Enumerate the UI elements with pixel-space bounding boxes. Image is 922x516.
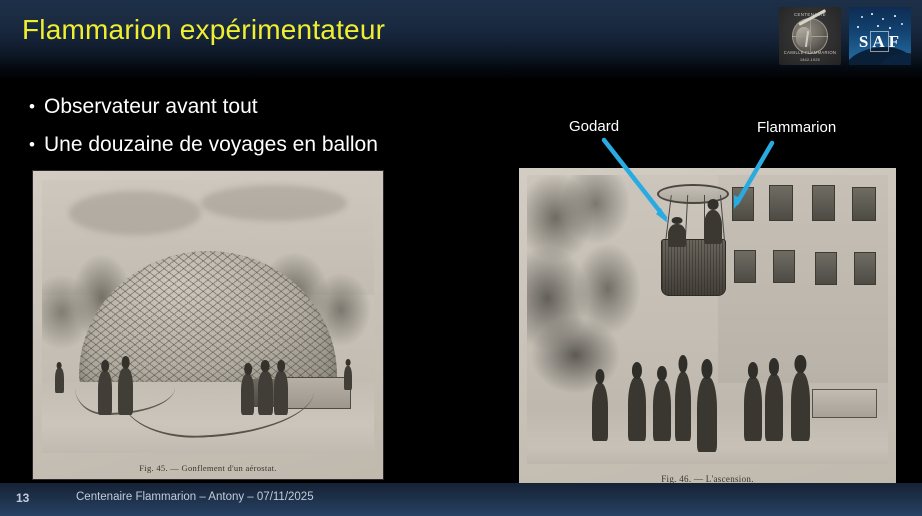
list-item: • Une douzaine de voyages en ballon <box>20 126 490 164</box>
saf-letter-s: S <box>859 32 870 51</box>
figure-person <box>98 371 111 415</box>
figure-person <box>791 372 811 441</box>
logo-top-text: CENTENAIRE <box>779 12 841 17</box>
figure-person <box>344 366 352 391</box>
page-title: Flammarion expérimentateur <box>22 13 385 47</box>
window <box>773 250 795 283</box>
window <box>732 187 754 220</box>
bullet-list: • Observateur avant tout • Une douzaine … <box>20 88 490 164</box>
slide-footer: 13 Centenaire Flammarion – Antony – 07/1… <box>0 483 922 516</box>
window <box>769 185 793 220</box>
footer-text: Centenaire Flammarion – Antony – 07/11/2… <box>76 491 314 503</box>
saf-letter-a: A <box>870 31 888 52</box>
logo-bottom-text: CAMILLE FLAMMARION <box>779 50 841 55</box>
cloud <box>69 191 202 235</box>
window <box>815 252 837 285</box>
figure-person <box>55 368 63 393</box>
callout-label-flammarion: Flammarion <box>757 119 836 137</box>
list-item: • Observateur avant tout <box>20 88 490 126</box>
window <box>734 250 756 283</box>
engraving-illustration <box>42 180 374 453</box>
window <box>852 187 876 220</box>
balloon-hoop <box>657 184 729 204</box>
bullet-icon: • <box>20 126 44 164</box>
saf-letter-f: F <box>889 32 901 51</box>
figure-caption: Fig. 45. — Gonflement d'un aérostat. <box>33 463 383 473</box>
star-icon <box>871 13 873 15</box>
figure-person <box>675 372 691 441</box>
figure-person <box>258 371 273 415</box>
bullet-text: Observateur avant tout <box>44 88 258 126</box>
figure-person <box>697 377 717 452</box>
star-icon <box>882 18 884 20</box>
figure-gonflement-aerostat: Fig. 45. — Gonflement d'un aérostat. <box>32 170 384 480</box>
figure-person <box>653 380 671 441</box>
cloud <box>201 185 347 220</box>
bullet-icon: • <box>20 88 44 126</box>
saf-logo-text: SAF <box>849 32 911 52</box>
slide: Flammarion expérimentateur CENTENAIRE CA… <box>0 0 922 516</box>
figure-person <box>765 374 783 440</box>
bullet-text: Une douzaine de voyages en ballon <box>44 126 378 164</box>
figure-person <box>241 374 254 415</box>
figure-ascension: Fig. 46. — L'ascension. <box>519 168 896 492</box>
figure-person <box>592 383 608 441</box>
star-icon <box>877 25 879 27</box>
figure-person <box>274 371 287 415</box>
balloon-basket <box>661 239 726 297</box>
figure-person <box>628 377 646 441</box>
slide-number: 13 <box>16 491 29 505</box>
star-icon <box>894 15 896 17</box>
aeronaut-godard <box>668 224 686 247</box>
building <box>718 175 888 383</box>
engraving-illustration <box>527 175 888 464</box>
figure-person <box>118 368 133 414</box>
bench <box>812 389 877 418</box>
portrait-icon <box>796 27 812 47</box>
star-icon <box>901 23 903 25</box>
star-icon <box>889 27 891 29</box>
window <box>854 252 876 285</box>
star-icon <box>861 16 863 18</box>
window <box>812 185 836 220</box>
star-icon <box>857 26 859 28</box>
slide-header: Flammarion expérimentateur CENTENAIRE CA… <box>0 0 922 80</box>
centenaire-flammarion-logo: CENTENAIRE CAMILLE FLAMMARION 1842-1925 <box>779 7 841 65</box>
figure-person <box>744 377 762 441</box>
aeronaut-flammarion <box>704 210 722 245</box>
callout-label-godard: Godard <box>569 118 619 136</box>
saf-logo: SAF <box>849 7 911 65</box>
logo-dates-text: 1842-1925 <box>779 58 841 62</box>
